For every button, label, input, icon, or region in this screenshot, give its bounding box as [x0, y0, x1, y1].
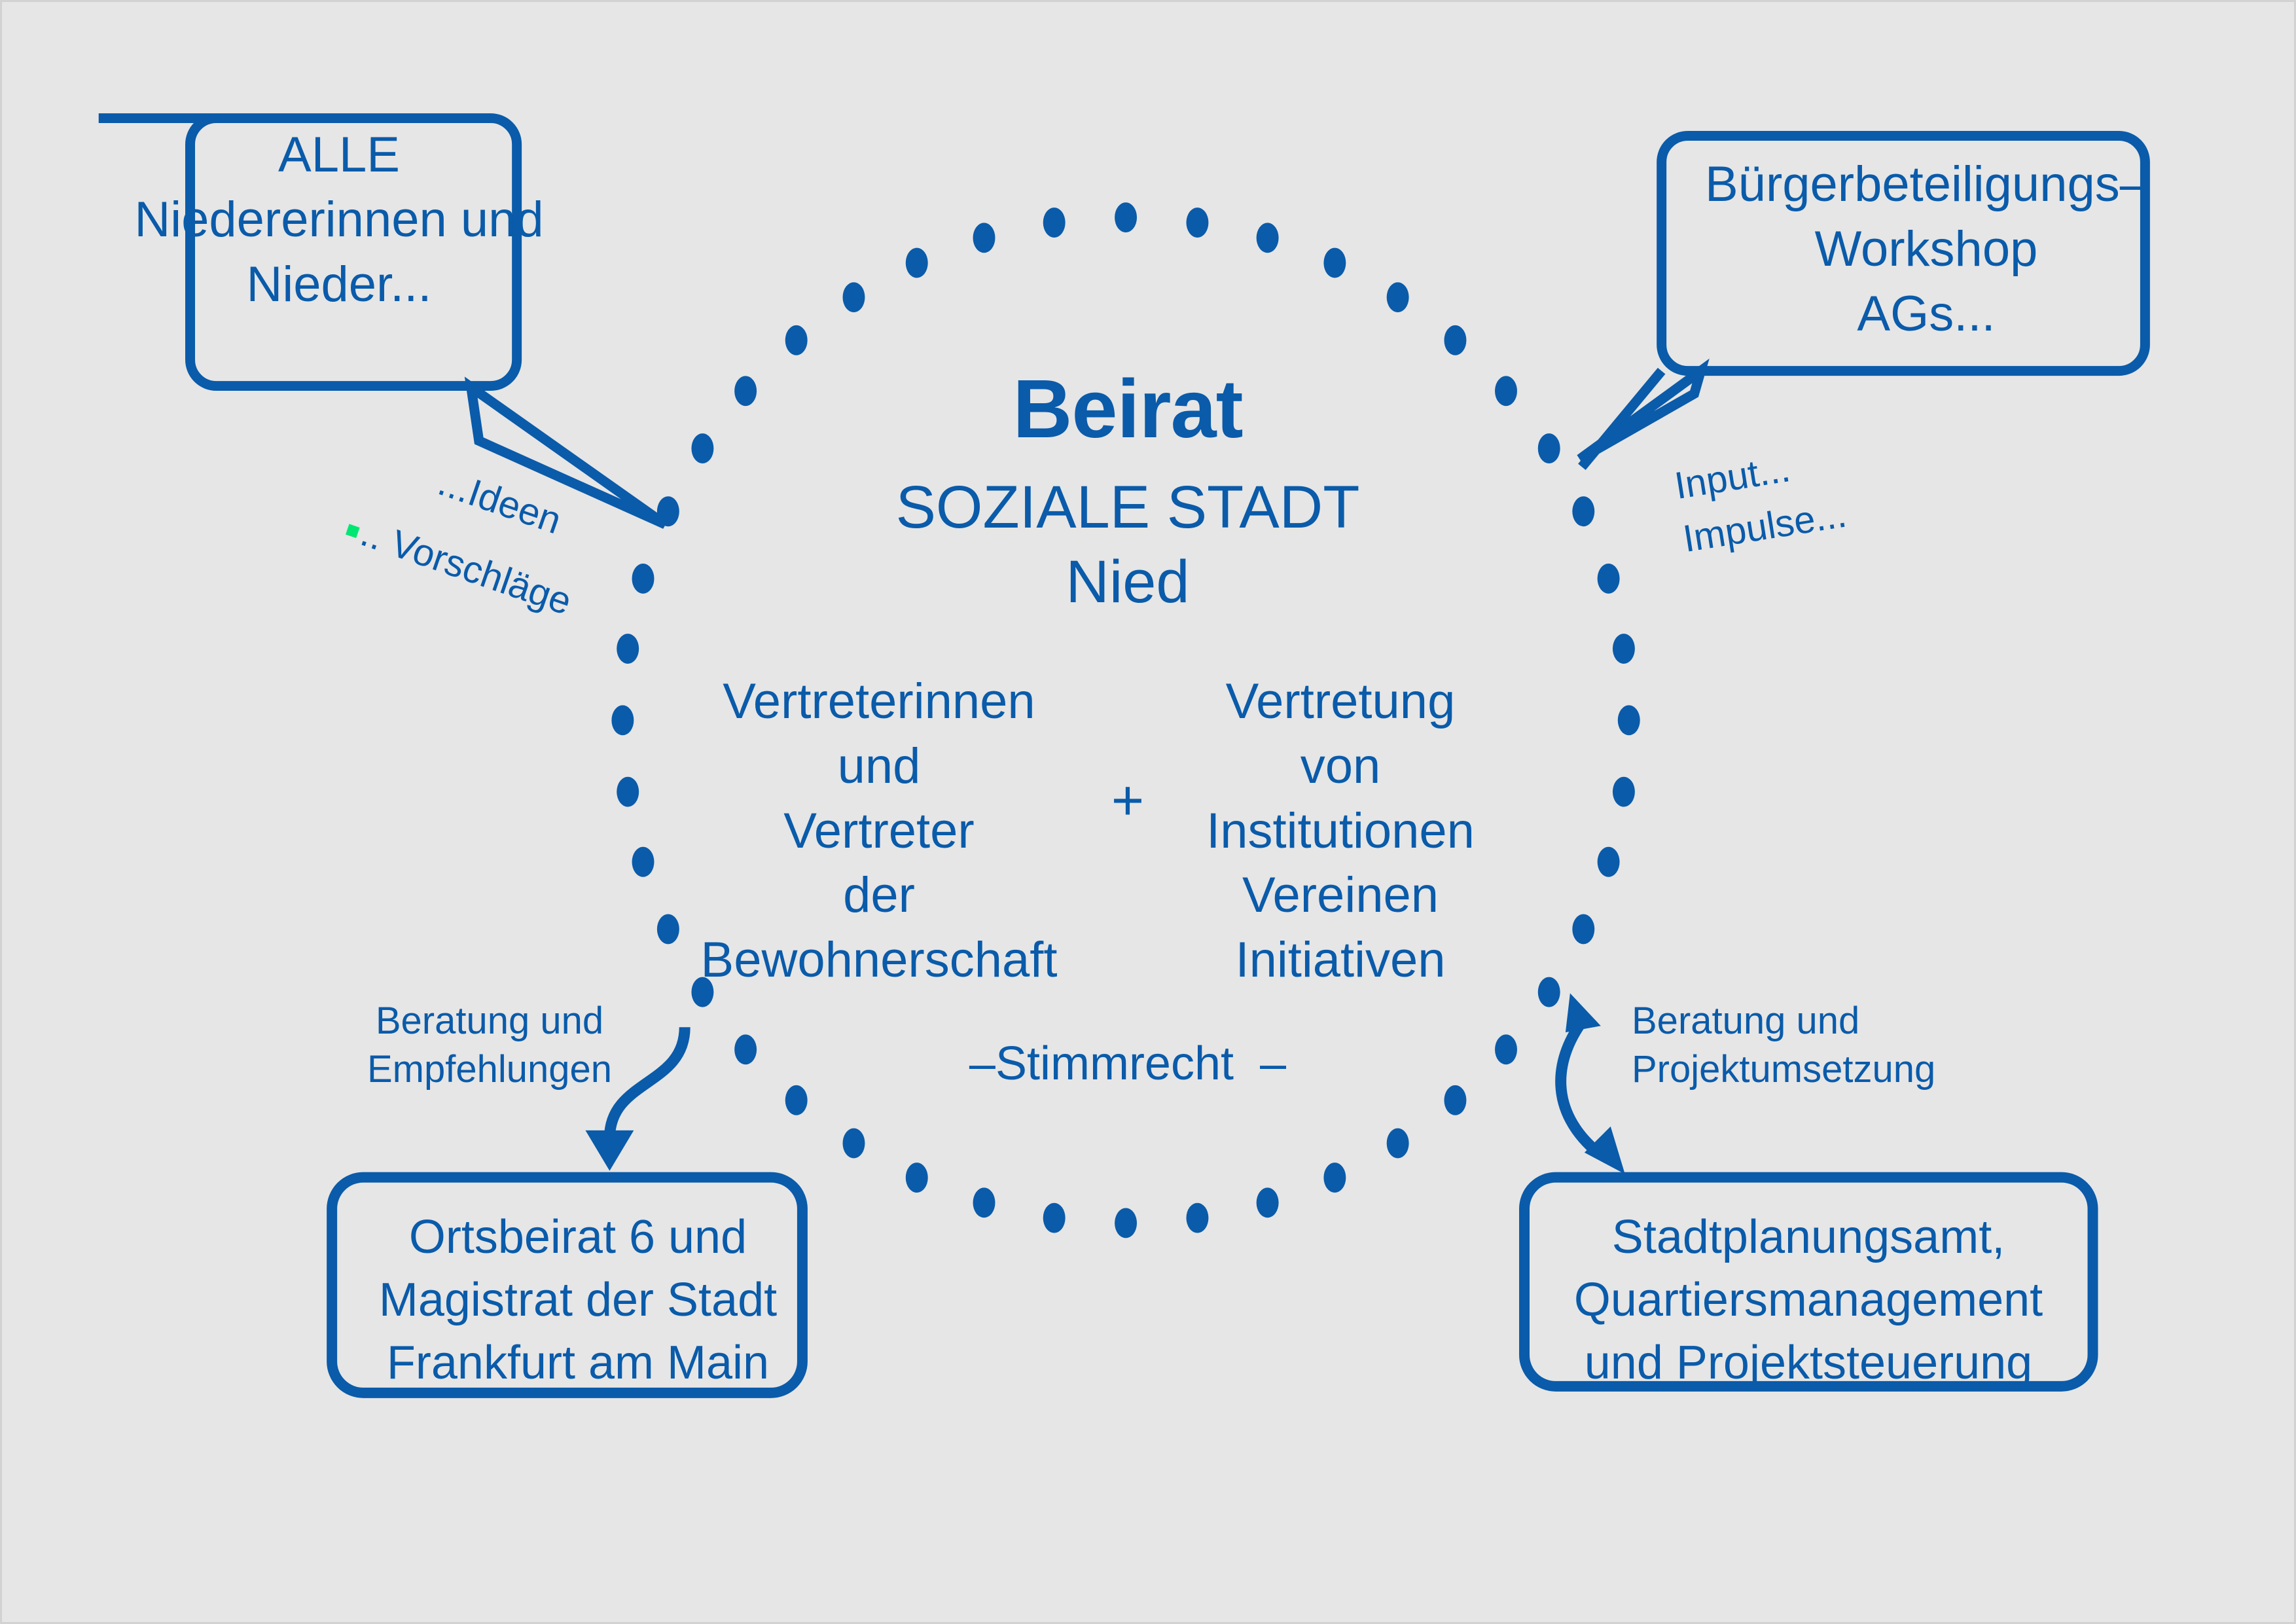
- dotted-circle: [611, 202, 1640, 1238]
- circle-dot: [1444, 1085, 1466, 1115]
- bubble-tail: [471, 388, 665, 524]
- circle-dot: [1387, 282, 1409, 312]
- circle-dot: [906, 1163, 928, 1193]
- circle-dot: [617, 777, 639, 807]
- circle-dot: [1323, 248, 1346, 278]
- circle-dot: [906, 248, 928, 278]
- box-stadtplanungsamt[interactable]: [1524, 1178, 2093, 1386]
- circle-dot: [973, 1187, 996, 1218]
- circle-dot: [1387, 1128, 1409, 1159]
- circle-dot: [843, 1128, 865, 1159]
- speech-bubble-top-right[interactable]: [1580, 136, 2145, 467]
- circle-dot: [1444, 325, 1466, 355]
- circle-dot: [1043, 1203, 1066, 1233]
- circle-dot: [734, 1034, 757, 1064]
- circle-dot: [785, 1085, 808, 1115]
- circle-dot: [691, 433, 713, 463]
- circle-dot: [785, 325, 808, 355]
- circle-dot: [843, 282, 865, 312]
- circle-dot: [1495, 376, 1517, 406]
- circle-dot: [1495, 1034, 1517, 1064]
- arrow-beratung-empfehlungen: [585, 1027, 685, 1170]
- circle-dot: [1598, 564, 1620, 594]
- box-ortsbeirat[interactable]: [332, 1178, 802, 1393]
- circle-dot: [1186, 1203, 1208, 1233]
- circle-dot: [1257, 1187, 1279, 1218]
- circle-dot: [1598, 847, 1620, 877]
- diagram-canvas: ALLE Niedererinnen und Nieder... Bürgerb…: [0, 0, 2296, 1624]
- circle-dot: [1613, 777, 1635, 807]
- circle-dot: [1613, 634, 1635, 664]
- circle-dot: [1323, 1163, 1346, 1193]
- circle-dot: [1115, 1208, 1137, 1238]
- circle-dot: [611, 705, 634, 735]
- circle-dot: [734, 376, 757, 406]
- circle-dot: [1538, 977, 1560, 1007]
- bubble-outline: [99, 118, 517, 386]
- circle-dot: [1115, 202, 1137, 232]
- circle-dot: [1572, 914, 1594, 944]
- diagram-vector-layer: [2, 2, 2294, 1622]
- arrow-beratung-projektumsetzung: [1561, 993, 1625, 1174]
- circle-dot: [1538, 433, 1560, 463]
- bubble-outline: [1662, 136, 2145, 371]
- circle-dot: [973, 223, 996, 253]
- circle-dot: [1618, 705, 1640, 735]
- circle-dot: [1186, 208, 1208, 238]
- circle-dot: [691, 977, 713, 1007]
- circle-dot: [632, 847, 655, 877]
- circle-dot: [617, 634, 639, 664]
- circle-dot: [632, 564, 655, 594]
- circle-dot: [1043, 208, 1066, 238]
- circle-dot: [657, 914, 679, 944]
- speech-bubble-top-left[interactable]: [99, 118, 666, 524]
- circle-dot: [1257, 223, 1279, 253]
- circle-dot: [1572, 496, 1594, 526]
